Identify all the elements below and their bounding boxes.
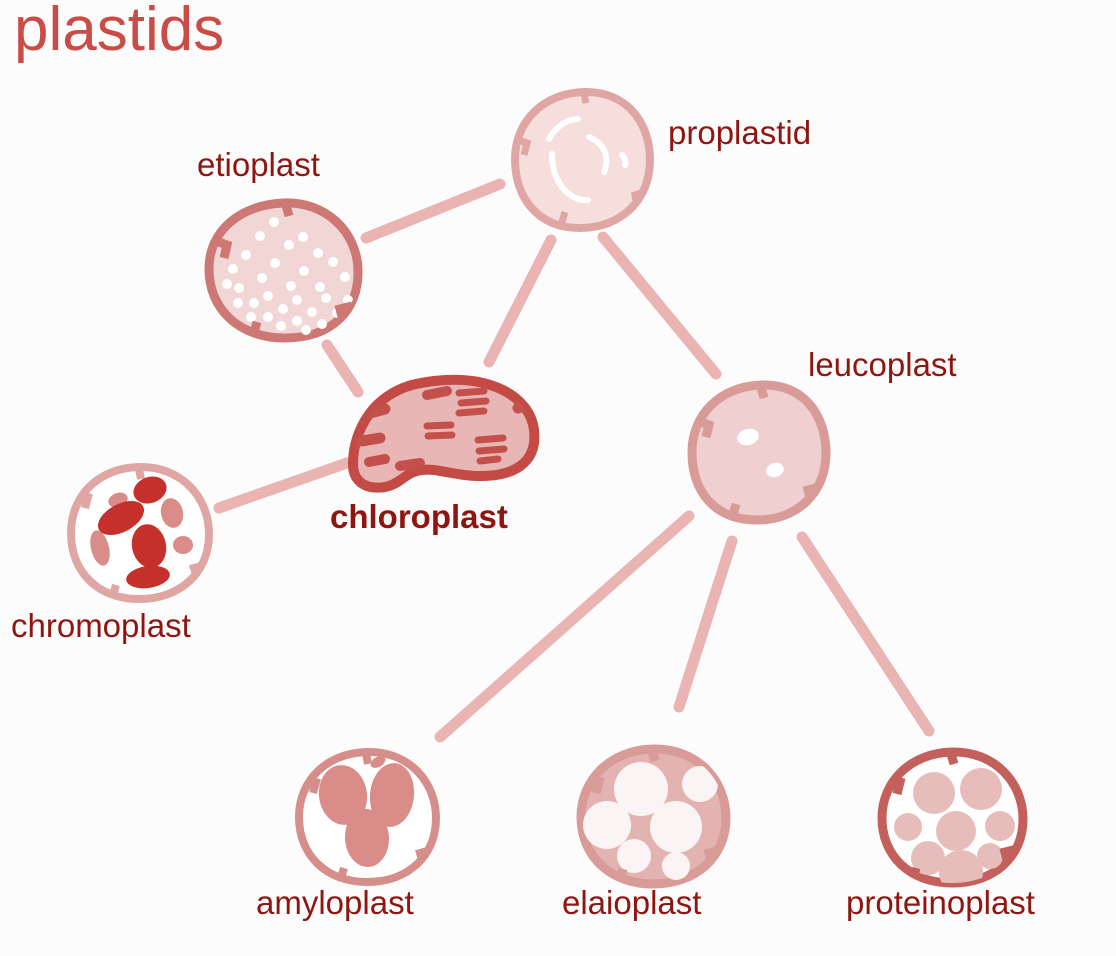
connector-proplastid-leucoplast	[603, 237, 716, 374]
plastid-diagram	[0, 0, 1116, 956]
node-chloroplast[interactable]	[353, 380, 534, 488]
connector-leucoplast-proteinoplast	[802, 537, 929, 731]
diagram-canvas: plastids etioplast proplastid leucoplast…	[0, 0, 1116, 956]
label-chromoplast: chromoplast	[11, 609, 191, 642]
node-chromoplast[interactable]	[71, 467, 209, 599]
label-proteinoplast: proteinoplast	[846, 886, 1035, 919]
label-proplastid: proplastid	[668, 116, 811, 149]
node-proplastid[interactable]	[515, 92, 650, 228]
node-leucoplast[interactable]	[692, 385, 826, 520]
node-elaioplast[interactable]	[581, 749, 726, 884]
node-etioplast[interactable]	[209, 203, 358, 338]
connector-chromoplast-chloroplast	[219, 463, 347, 508]
connector-proplastid-chloroplast	[489, 240, 551, 362]
label-chloroplast: chloroplast	[330, 500, 508, 533]
connector-etioplast-chloroplast	[327, 345, 358, 392]
label-elaioplast: elaioplast	[562, 886, 701, 919]
node-proteinoplast[interactable]	[882, 752, 1023, 894]
node-amyloplast[interactable]	[299, 752, 436, 882]
connector-leucoplast-elaioplast	[679, 541, 732, 707]
connector-etioplast-proplastid	[366, 184, 500, 238]
label-amyloplast: amyloplast	[256, 886, 414, 919]
page-title: plastids	[14, 0, 224, 64]
label-etioplast: etioplast	[197, 148, 320, 181]
connector-leucoplast-amyloplast	[440, 516, 689, 737]
label-leucoplast: leucoplast	[808, 348, 957, 381]
proplastid-body	[515, 92, 650, 228]
